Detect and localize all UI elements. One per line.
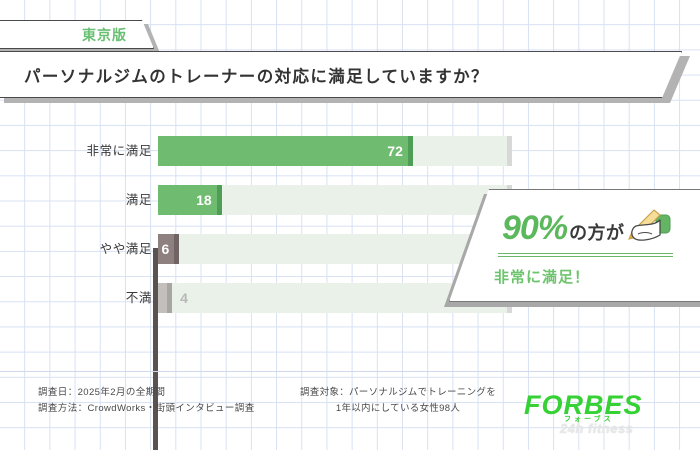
bar-track: [158, 234, 512, 264]
bar-category-label: 不満: [32, 287, 152, 306]
callout-subline: 非常に満足！: [494, 266, 590, 287]
footer-survey-info: 調査日：2025年2月の全期間 調査方法：CrowdWorks・街頭インタビュー…: [38, 385, 255, 417]
title-banner: パーソナルジムのトレーナーの対応に満足していますか？: [0, 51, 682, 98]
survey-target-line1: 調査対象：パーソナルジムでトレーニングを: [300, 385, 496, 401]
infographic-page: 東京版 パーソナルジムのトレーナーの対応に満足していますか？ 非常に満足72満足…: [0, 0, 700, 450]
callout-suffix: の方が: [569, 219, 625, 245]
logo-tagline: 24h fitness: [560, 421, 633, 436]
brand-logo: FORBES フォーブス 24h fitness: [524, 392, 684, 438]
bar-category-label: 非常に満足: [32, 140, 152, 159]
callout-headline: 90% の方が: [502, 209, 625, 248]
callout-box: 90% の方が 非常に満足！: [449, 189, 700, 302]
survey-target-line2: 1年以内にしている女性98人: [300, 401, 496, 417]
callout-percent: 90%: [502, 209, 567, 248]
bar-category-label: 満足: [32, 189, 152, 208]
footer-target-info: 調査対象：パーソナルジムでトレーニングを 1年以内にしている女性98人: [300, 385, 496, 417]
callout-underline: [498, 253, 673, 257]
survey-date: 調査日：2025年2月の全期間: [38, 385, 255, 401]
bar-value-label: 4: [180, 283, 188, 313]
bar-category-label: やや満足: [32, 238, 152, 257]
bar-track-cap: [507, 136, 512, 166]
bar-edge: [174, 234, 179, 264]
page-title: パーソナルジムのトレーナーの対応に満足していますか？: [24, 63, 489, 87]
bar-edge: [217, 185, 222, 215]
region-tab: 東京版: [0, 20, 154, 49]
survey-method: 調査方法：CrowdWorks・街頭インタビュー調査: [38, 401, 255, 417]
bar-value-label: 72: [375, 136, 403, 166]
hand-writing-icon: [618, 204, 674, 249]
region-tab-label: 東京版: [82, 25, 127, 45]
bar-row: 非常に満足72: [0, 128, 700, 174]
bar-value-label: 6: [141, 234, 169, 264]
bar-edge: [408, 136, 413, 166]
bar-value-label: 18: [184, 185, 212, 215]
footer-divider: [0, 371, 700, 372]
bar-edge: [167, 283, 172, 313]
